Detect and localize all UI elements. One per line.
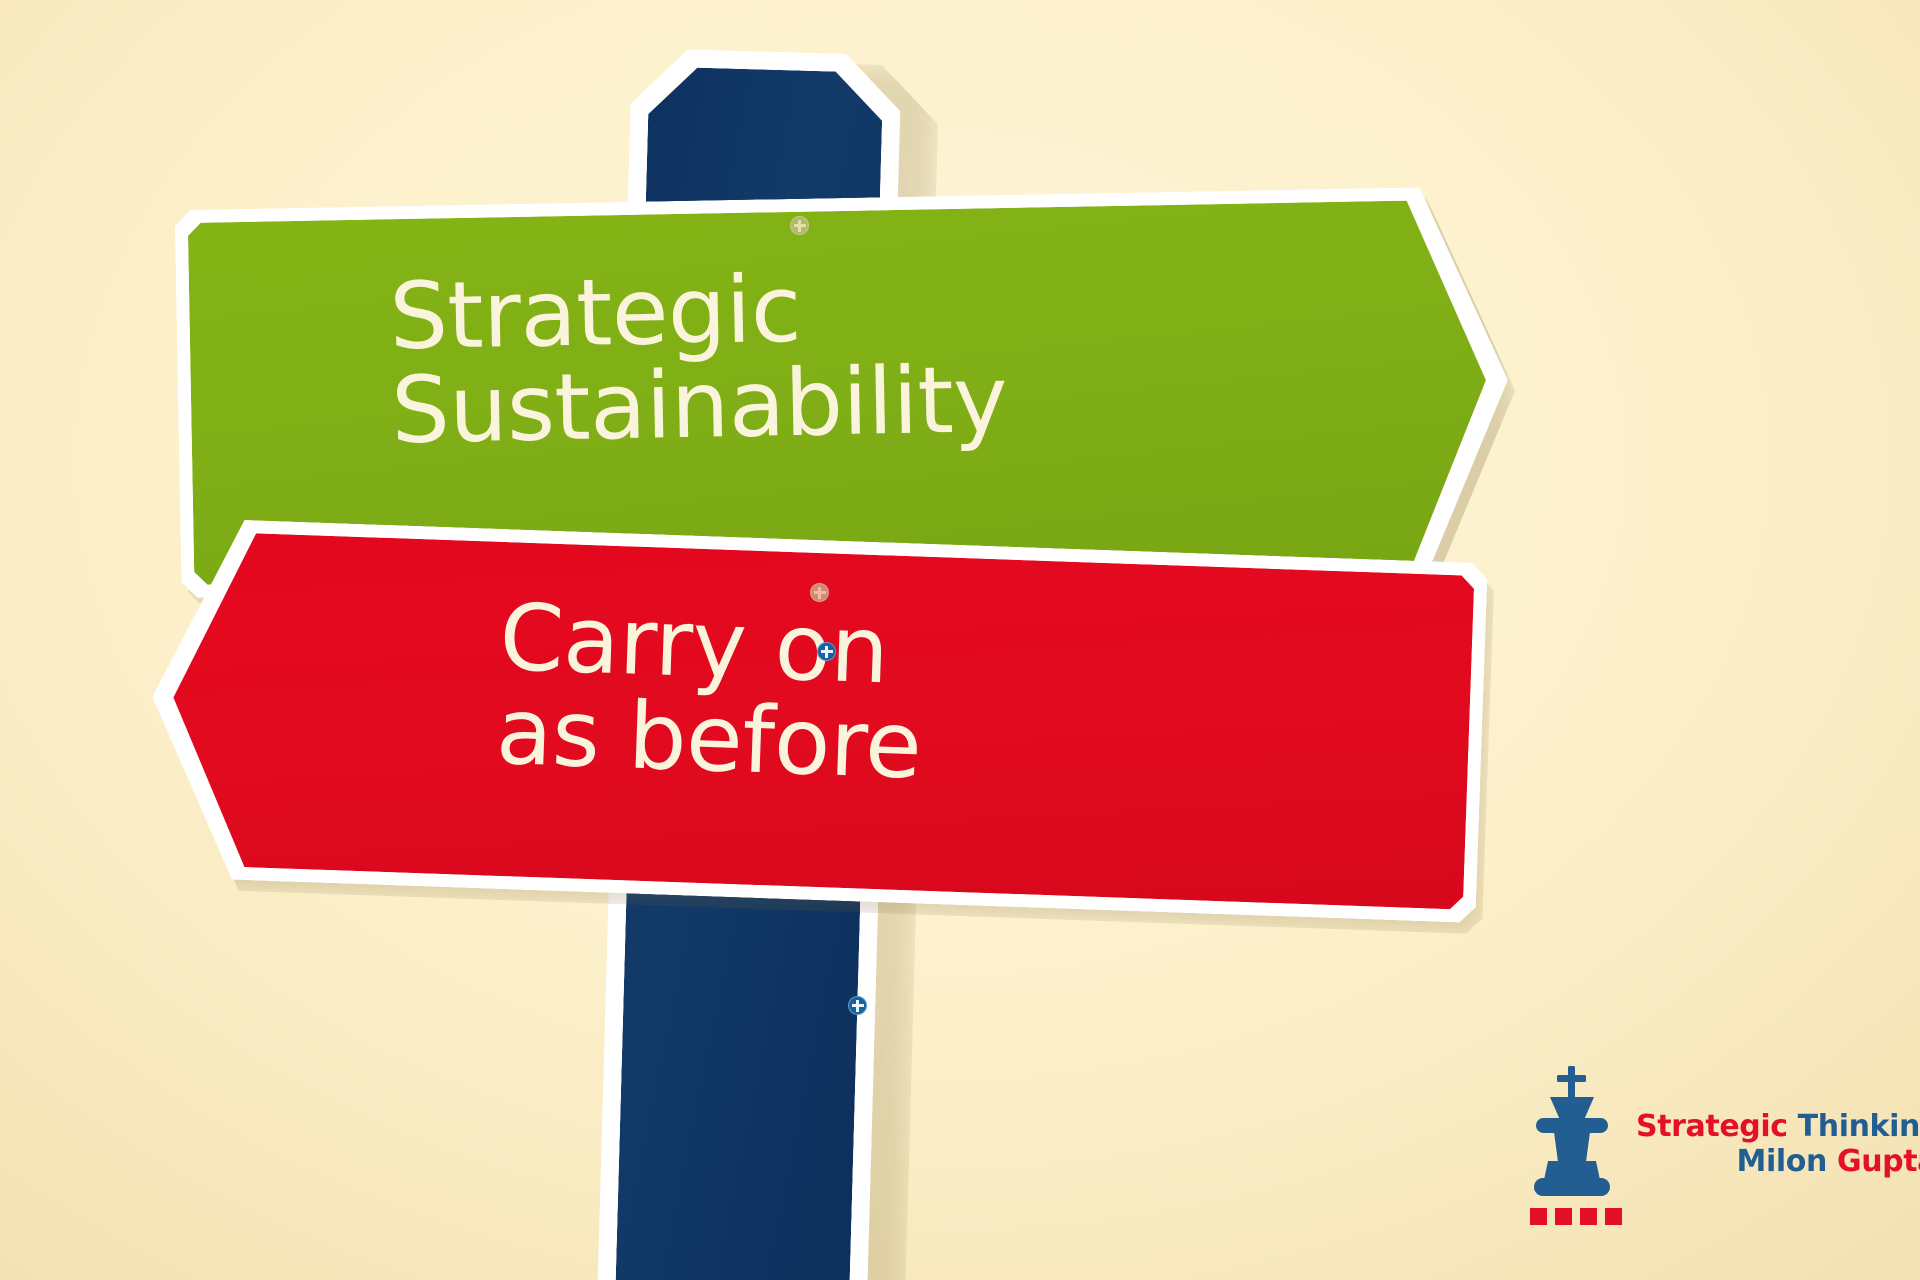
logo-square	[1530, 1208, 1547, 1225]
sign-label-green: Strategic Sustainability	[389, 259, 1008, 458]
logo-word-strategic: Strategic	[1636, 1109, 1788, 1144]
logo-square	[1580, 1208, 1597, 1225]
sign-carry-on-as-before[interactable]: Carry on as before	[146, 517, 1488, 923]
logo-text: Strategic Thinking Milon Gupta	[1636, 1110, 1920, 1180]
logo-line-2: Milon Gupta	[1636, 1145, 1920, 1180]
strategic-thinking-logo[interactable]: Strategic Thinking Milon Gupta	[1528, 1062, 1868, 1232]
signpost-illustration: Strategic Sustainability Carry on as bef…	[0, 0, 1920, 1280]
logo-word-milon: Milon	[1737, 1144, 1827, 1179]
logo-squares	[1530, 1208, 1622, 1225]
screw-middle-icon	[817, 642, 836, 661]
logo-line-1: Strategic Thinking	[1636, 1110, 1920, 1145]
sign-label-red: Carry on as before	[495, 591, 926, 793]
screw-top-icon	[790, 216, 809, 235]
screw-bottom-icon	[848, 996, 867, 1015]
logo-square	[1605, 1208, 1622, 1225]
chess-king-icon	[1532, 1062, 1612, 1202]
screw-green-lower-icon	[810, 583, 829, 602]
logo-word-gupta: Gupta	[1837, 1144, 1920, 1179]
logo-square	[1555, 1208, 1572, 1225]
logo-word-thinking: Thinking	[1798, 1109, 1920, 1144]
